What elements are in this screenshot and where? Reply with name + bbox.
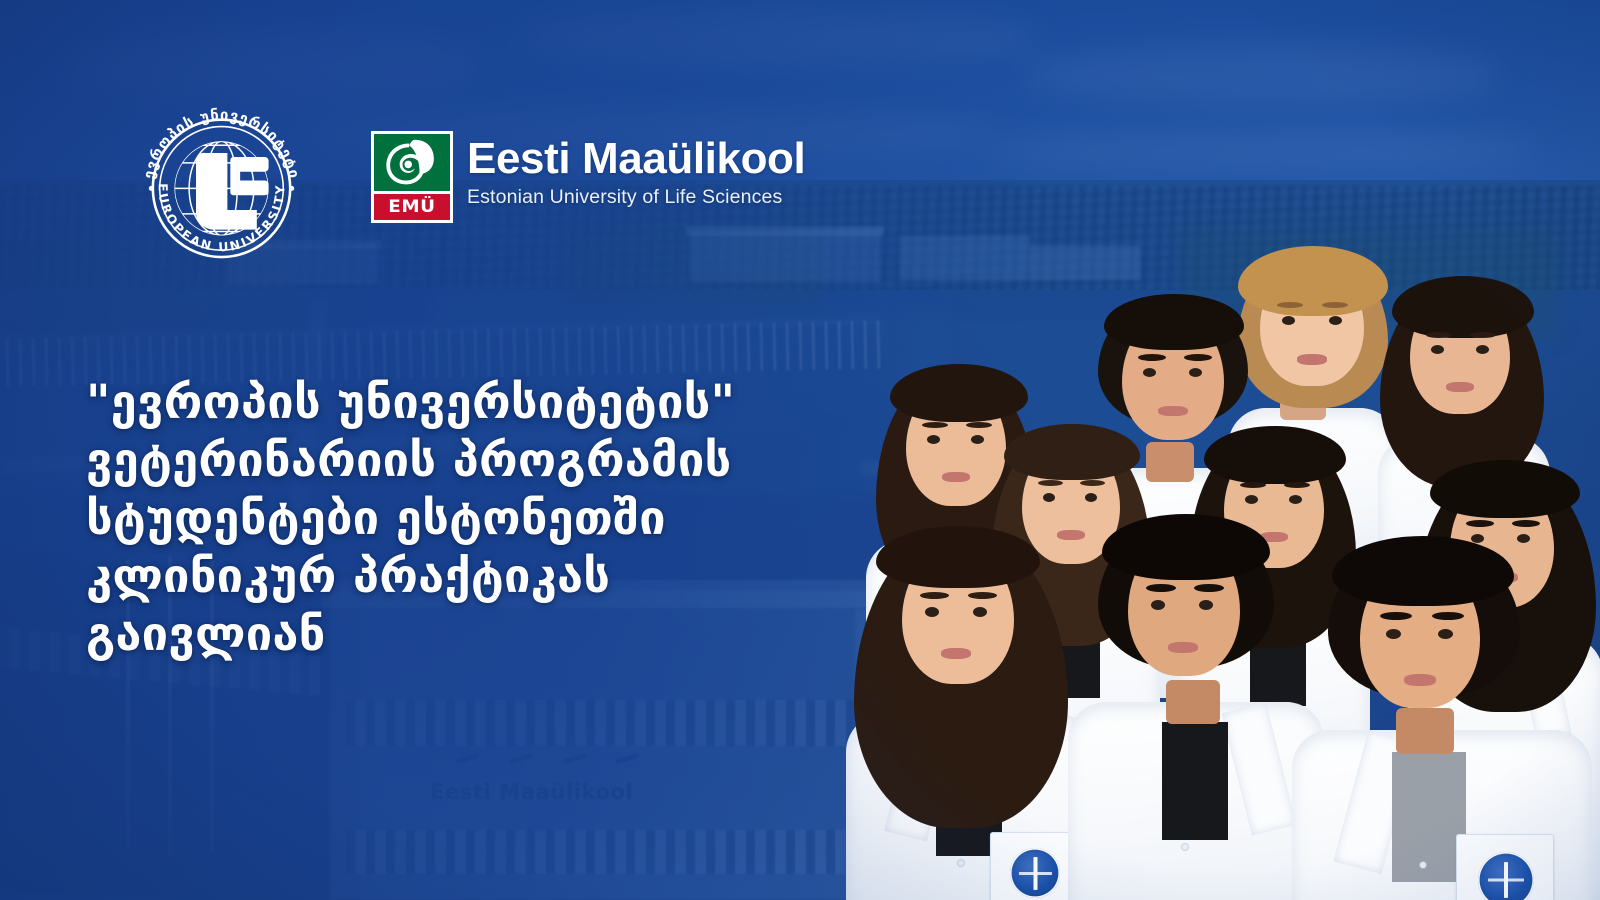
emu-title: Eesti Maaülikool bbox=[467, 137, 805, 182]
emu-subtitle: Estonian University of Life Sciences bbox=[467, 186, 805, 209]
european-university-seal: ევროპის უნივერსიტეტი EUROPEAN UNIVERSITY bbox=[133, 104, 310, 259]
eesti-maaulikool-lockup: EMÜ Eesti Maaülikool Estonian University… bbox=[371, 131, 805, 223]
emu-abbreviation: EMÜ bbox=[388, 199, 435, 216]
headline-block: "ევროპის უნივერსიტეტის" ვეტერინარიის პრო… bbox=[86, 374, 876, 664]
promotional-banner: Eesti Maaülikool ევროპის უნივერსიტეტი EU… bbox=[0, 0, 1600, 900]
headline-line-3: სტუდენტები ესტონეთში bbox=[86, 490, 876, 548]
emu-wordmark-box: EMÜ bbox=[374, 194, 450, 220]
logo-row: ევროპის უნივერსიტეტი EUROPEAN UNIVERSITY bbox=[0, 0, 1600, 270]
emu-wordmark-text: Eesti Maaülikool Estonian University of … bbox=[467, 131, 805, 209]
headline-line-2: ვეტერინარიის პროგრამის bbox=[86, 432, 876, 490]
headline-line-1: "ევროპის უნივერსიტეტის" bbox=[86, 374, 876, 432]
emu-leaf-swirl-icon bbox=[374, 134, 450, 191]
headline-line-4: კლინიკურ პრაქტიკას bbox=[86, 548, 876, 606]
students-group-photo bbox=[840, 240, 1600, 900]
headline-line-5: გაივლიან bbox=[86, 606, 876, 664]
pocket-badge bbox=[1478, 852, 1534, 900]
emu-logo-mark: EMÜ bbox=[371, 131, 453, 223]
pocket-badge bbox=[1010, 848, 1060, 898]
